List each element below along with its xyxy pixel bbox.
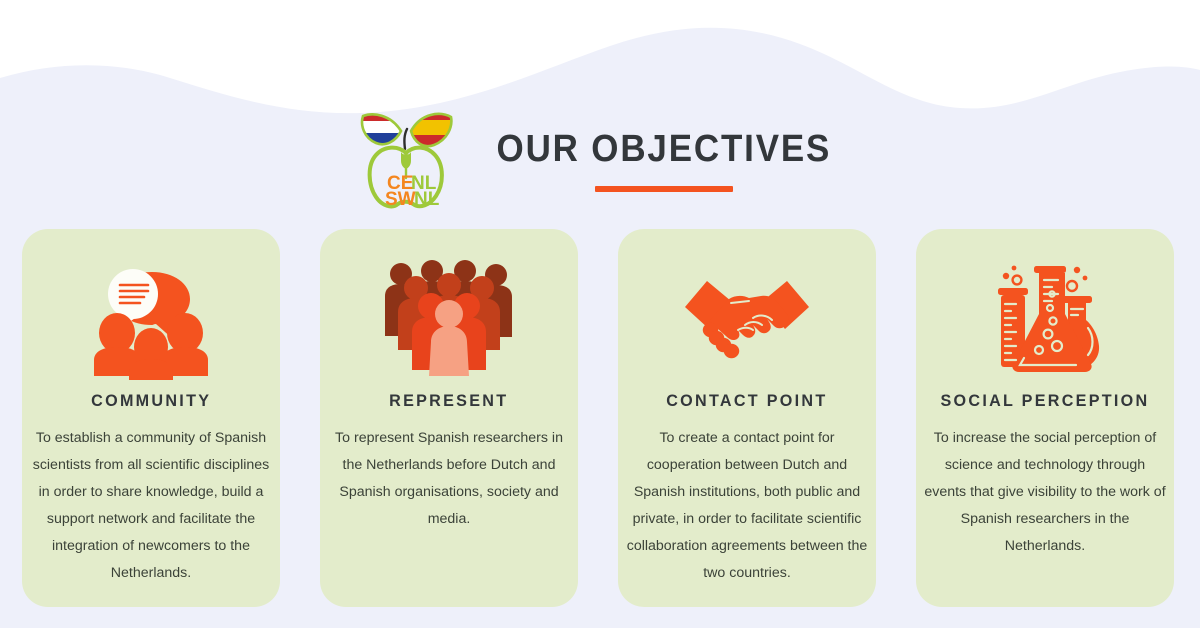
- card-heading: COMMUNITY: [91, 391, 211, 411]
- card-heading: REPRESENT: [389, 391, 508, 411]
- objective-card-represent[interactable]: REPRESENT To represent Spanish researche…: [320, 229, 578, 607]
- cenl-swnl-apple-logo: CE NL SW NL: [354, 105, 458, 213]
- card-heading: SOCIAL PERCEPTION: [941, 391, 1150, 411]
- objective-card-social-perception[interactable]: SOCIAL PERCEPTION To increase the social…: [916, 229, 1174, 607]
- objective-card-community[interactable]: COMMUNITY To establish a community of Sp…: [22, 229, 280, 607]
- crowd-of-people-icon: [379, 247, 519, 387]
- title-underline-bar: [595, 186, 733, 192]
- objectives-card-row: COMMUNITY To establish a community of Sp…: [22, 229, 1178, 607]
- svg-text:SW: SW: [385, 189, 416, 210]
- objective-card-contact-point[interactable]: CONTACT POINT To create a contact point …: [618, 229, 876, 607]
- handshake-icon: [683, 247, 811, 387]
- page-title: OUR OBJECTIVES: [497, 130, 832, 168]
- infographic-page: CE NL SW NL OUR OBJECTIVES: [0, 0, 1200, 628]
- title-block: OUR OBJECTIVES: [482, 126, 846, 192]
- card-body-text: To increase the social perception of sci…: [919, 425, 1171, 560]
- page-header: CE NL SW NL OUR OBJECTIVES: [0, 104, 1200, 214]
- card-body-text: To create a contact point for cooperatio…: [621, 425, 873, 587]
- laboratory-flasks-icon: [984, 247, 1106, 387]
- community-people-speech-bubble-icon: [88, 247, 214, 387]
- card-body-text: To establish a community of Spanish scie…: [25, 425, 277, 587]
- card-body-text: To represent Spanish researchers in the …: [323, 425, 575, 533]
- card-heading: CONTACT POINT: [666, 391, 827, 411]
- svg-text:NL: NL: [414, 189, 440, 210]
